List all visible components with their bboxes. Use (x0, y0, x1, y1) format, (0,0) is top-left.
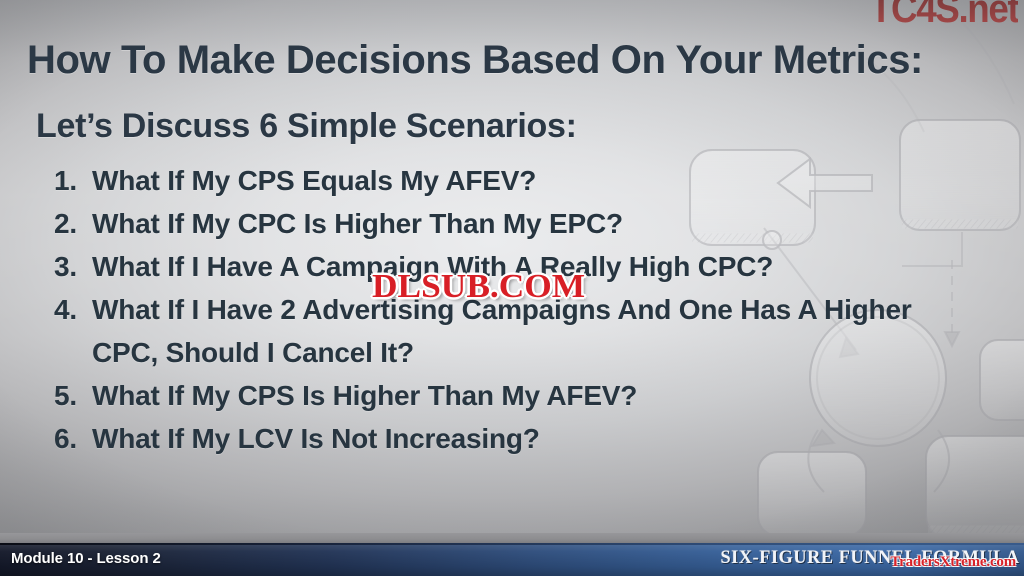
list-item-label: What If My LCV Is Not Increasing? (92, 417, 972, 460)
list-item-number: 6. (54, 417, 92, 460)
list-item: 2. What If My CPC Is Higher Than My EPC? (54, 202, 984, 245)
slide-title: How To Make Decisions Based On Your Metr… (27, 38, 923, 83)
list-item-number: 5. (54, 374, 92, 417)
watermark-tc4s: TC4S.net (870, 0, 1018, 32)
slide-canvas: TC4S.net How To Make Decisions Based On … (0, 0, 1024, 576)
list-item-label: What If My CPC Is Higher Than My EPC? (92, 202, 972, 245)
list-item: 5. What If My CPS Is Higher Than My AFEV… (54, 374, 984, 417)
list-item-label: What If My CPS Is Higher Than My AFEV? (92, 374, 972, 417)
watermark-tradersxtreme: TradersXtreme.com (890, 554, 1016, 571)
scenario-list: 1. What If My CPS Equals My AFEV? 2. Wha… (54, 159, 984, 460)
slide-subtitle: Let’s Discuss 6 Simple Scenarios: (36, 107, 577, 146)
list-item-number: 2. (54, 202, 92, 245)
watermark-dlsub: DLSUB.COM (372, 268, 585, 306)
footer-divider (0, 533, 1024, 543)
list-item: 1. What If My CPS Equals My AFEV? (54, 159, 984, 202)
footer-bar: Module 10 - Lesson 2 SIX-FIGURE FUNNEL F… (0, 543, 1024, 576)
list-item-number: 4. (54, 288, 92, 331)
list-item-number: 3. (54, 245, 92, 288)
list-item-number: 1. (54, 159, 92, 202)
list-item-label: What If My CPS Equals My AFEV? (92, 159, 972, 202)
list-item: 6. What If My LCV Is Not Increasing? (54, 417, 984, 460)
footer-top-edge (0, 543, 1024, 545)
footer-lesson-label: Module 10 - Lesson 2 (11, 550, 161, 567)
